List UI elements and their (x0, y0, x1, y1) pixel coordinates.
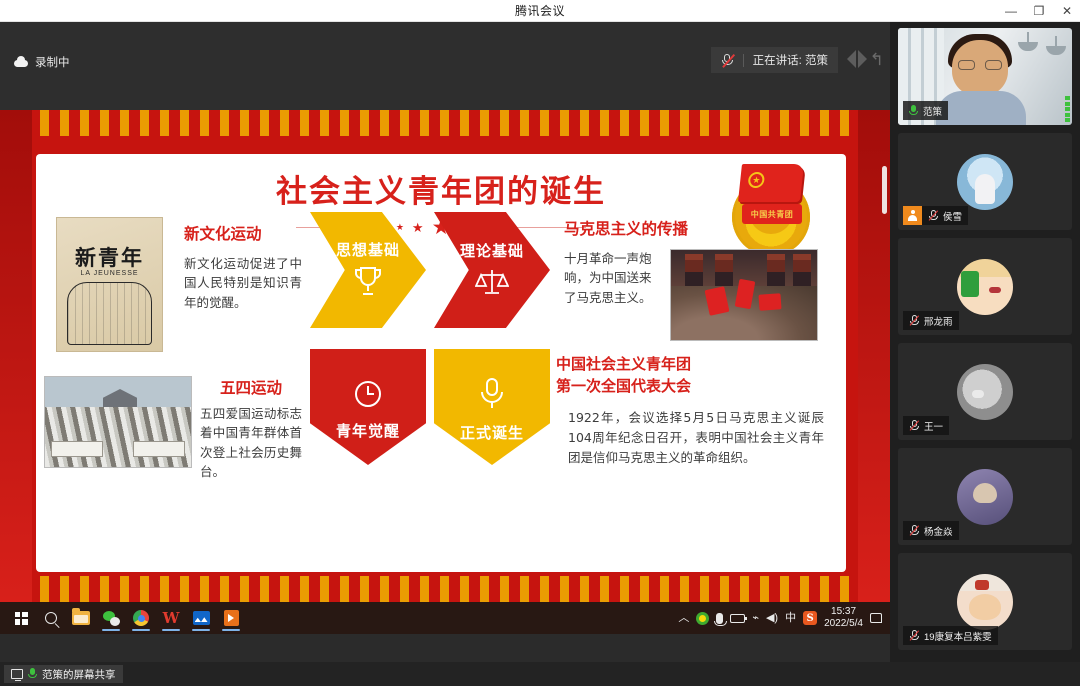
taskbar-wps-office[interactable]: W (156, 603, 186, 633)
audio-level-meter (1065, 64, 1070, 122)
minimize-button[interactable]: — (1004, 4, 1018, 18)
magazine-title: 新青年 (57, 242, 162, 272)
windows-start-icon (15, 612, 28, 625)
participant-name: 邢龙雨 (924, 314, 953, 328)
participant-tile[interactable]: 邢龙雨 (898, 238, 1072, 335)
tray-shield-icon[interactable] (696, 612, 709, 625)
window-titlebar: 腾讯会议 — ❐ ✕ (0, 0, 1080, 22)
tencent-meeting-icon (193, 611, 210, 625)
maximize-button[interactable]: ❐ (1032, 4, 1046, 18)
new-culture-body: 新文化运动促进了中国人民特别是知识青年的觉醒。 (184, 254, 302, 312)
block-new-culture: 新文化运动 新文化运动促进了中国人民特别是知识青年的觉醒。 (184, 222, 302, 312)
host-badge (903, 206, 922, 225)
tray-wifi-icon[interactable]: ⌁ (752, 613, 759, 624)
block-first-congress: 中国社会主义青年团 第一次全国代表大会 1922年，会议选择5月5日马克思主义诞… (556, 354, 824, 468)
participant-tile[interactable]: 19康复本吕紫雯 (898, 553, 1072, 650)
mic-muted-icon (909, 315, 919, 327)
avatar (957, 574, 1013, 630)
participant-tile[interactable]: 范策 (898, 28, 1072, 125)
tray-battery-icon[interactable] (730, 614, 745, 623)
taskbar-chrome[interactable] (126, 603, 156, 633)
avatar (957, 364, 1013, 420)
star-icon: ★ (396, 223, 404, 232)
congress-heading-line2: 第一次全国代表大会 (556, 376, 824, 398)
bottom-status-bar: 范策的屏幕共享 (0, 662, 1080, 686)
screen-share-icon (11, 669, 23, 679)
start-button[interactable] (6, 603, 36, 633)
new-culture-heading: 新文化运动 (184, 222, 302, 244)
app-title: 腾讯会议 (515, 2, 565, 19)
arrow-label: 青年觉醒 (336, 420, 400, 441)
participant-badges: 邢龙雨 (903, 311, 959, 330)
screen-share-indicator: 范策的屏幕共享 (4, 665, 123, 683)
participant-badges: 范策 (903, 101, 948, 120)
block-may-fourth: 五四运动 五四爱国运动标志着中国青年群体首次登上社会历史舞台。 (200, 376, 302, 482)
taskbar-items: W (0, 603, 246, 633)
tray-date: 2022/5/4 (824, 618, 863, 629)
divider (743, 54, 744, 67)
active-speaker-label: 正在讲话: 范策 (753, 52, 828, 68)
participant-tile[interactable]: 杨金焱 (898, 448, 1072, 545)
may-fourth-body: 五四爱国运动标志着中国青年群体首次登上社会历史舞台。 (200, 404, 302, 482)
participant-badges: 王一 (903, 416, 949, 435)
participant-name: 王一 (924, 419, 943, 433)
tray-notification-icon[interactable] (870, 613, 882, 623)
star-icon: ★ (412, 221, 424, 234)
participant-name: 范策 (923, 104, 942, 118)
cloud-recording-icon (14, 57, 28, 67)
system-tray: ︿ ⌁ ◀) 中 S 15:37 2022/5/4 (678, 606, 890, 630)
participant-badges: 侯雪 (903, 206, 968, 225)
mic-muted-icon (909, 525, 919, 537)
recording-indicator: 录制中 (14, 54, 70, 70)
congress-heading-line1: 中国社会主义青年团 (556, 354, 824, 376)
tray-volume-icon[interactable]: ◀) (766, 613, 778, 624)
taskbar-file-explorer[interactable] (66, 603, 96, 633)
chrome-icon (133, 610, 149, 626)
tray-time: 15:37 (831, 606, 856, 617)
mic-on-icon (909, 105, 918, 117)
participant-badges: 杨金焱 (903, 521, 959, 540)
block-marxism: 马克思主义的传播 十月革命一声炮响，为中国送来了马克思主义。 (564, 217, 822, 341)
file-explorer-icon (72, 611, 90, 625)
tray-sogou-icon[interactable]: S (803, 611, 817, 625)
participant-name: 侯雪 (943, 209, 962, 223)
tray-ime-label[interactable]: 中 (785, 613, 796, 624)
participant-badges: 19康复本吕紫雯 (903, 626, 998, 645)
avatar (957, 259, 1013, 315)
shared-screen-slide[interactable]: 社会主义青年团的诞生 ★ ★ ★ ★ ★ ★ 中国共青团 (0, 110, 890, 602)
recording-label: 录制中 (35, 54, 70, 70)
tray-microphone-icon[interactable] (716, 613, 723, 624)
tencent-meeting-window: 腾讯会议 — ❐ ✕ 录制中 正在讲话: 范策 ↰ (0, 0, 1080, 686)
taskbar-search-button[interactable] (36, 603, 66, 633)
chevron-right-icon (858, 50, 867, 68)
wps-office-icon: W (163, 611, 180, 626)
search-icon (45, 612, 57, 624)
may-fourth-heading: 五四运动 (200, 376, 302, 398)
arrow-label: 正式诞生 (460, 422, 524, 443)
mic-on-icon (28, 668, 37, 680)
arrow-formal-birth: 正式诞生 (434, 349, 550, 465)
mic-muted-icon (928, 210, 938, 222)
participant-tile[interactable]: 侯雪 (898, 133, 1072, 230)
media-player-icon (224, 610, 239, 626)
avatar (957, 469, 1013, 525)
marxism-heading: 马克思主义的传播 (564, 217, 822, 239)
participant-tile[interactable]: 王一 (898, 343, 1072, 440)
trophy-icon (353, 265, 383, 302)
back-arrow-icon[interactable]: ↰ (870, 51, 884, 68)
chevron-left-icon (847, 50, 856, 68)
slide-scrollbar[interactable] (882, 166, 887, 214)
arrow-youth-awakening: 青年觉醒 (310, 349, 426, 465)
may-fourth-movement-image (44, 376, 192, 468)
slide-ribbon-left (0, 110, 32, 602)
tray-clock[interactable]: 15:37 2022/5/4 (824, 606, 863, 630)
video-layout-icons[interactable]: ↰ (847, 50, 884, 68)
participants-panel: 范策 侯雪 邢龙雨 (890, 22, 1080, 662)
marxism-body: 十月革命一声炮响，为中国送来了马克思主义。 (564, 249, 660, 341)
wechat-icon (103, 611, 120, 626)
clock-icon (353, 379, 383, 414)
slide-decor-bottom (0, 576, 890, 602)
magazine-frame (67, 282, 152, 345)
windows-taskbar: W ︿ ⌁ ◀) 中 S (0, 602, 890, 634)
tray-chevron-up-icon[interactable]: ︿ (678, 613, 689, 624)
new-youth-magazine-image: 新青年 LA JEUNESSE (56, 217, 163, 352)
close-button[interactable]: ✕ (1060, 4, 1074, 18)
meeting-top-strip: 录制中 正在讲话: 范策 ↰ (0, 22, 890, 110)
october-revolution-image (670, 249, 818, 341)
scales-icon (475, 266, 509, 301)
microphone-icon (479, 377, 505, 416)
mic-muted-icon (909, 630, 919, 642)
screen-share-label: 范策的屏幕共享 (42, 667, 116, 682)
congress-body: 1922年，会议选择5月5日马克思主义诞辰104周年纪念日召开，表明中国社会主义… (556, 408, 824, 468)
participant-name: 杨金焱 (924, 524, 953, 538)
arrow-label: 思想基础 (336, 239, 400, 260)
taskbar-wechat[interactable] (96, 603, 126, 633)
taskbar-tencent-meeting[interactable] (186, 603, 216, 633)
window-controls: — ❐ ✕ (1004, 0, 1074, 22)
mic-muted-icon (721, 53, 734, 68)
magazine-subtitle: LA JEUNESSE (57, 270, 162, 277)
participant-name: 19康复本吕紫雯 (924, 629, 992, 643)
slide-decor-top (0, 110, 890, 136)
mic-muted-icon (909, 420, 919, 432)
slide-card: 社会主义青年团的诞生 ★ ★ ★ ★ ★ ★ 中国共青团 (36, 154, 846, 572)
arrow-label: 理论基础 (460, 240, 524, 261)
taskbar-media-player[interactable] (216, 603, 246, 633)
active-speaker-pill: 正在讲话: 范策 (711, 47, 838, 73)
avatar (957, 154, 1013, 210)
